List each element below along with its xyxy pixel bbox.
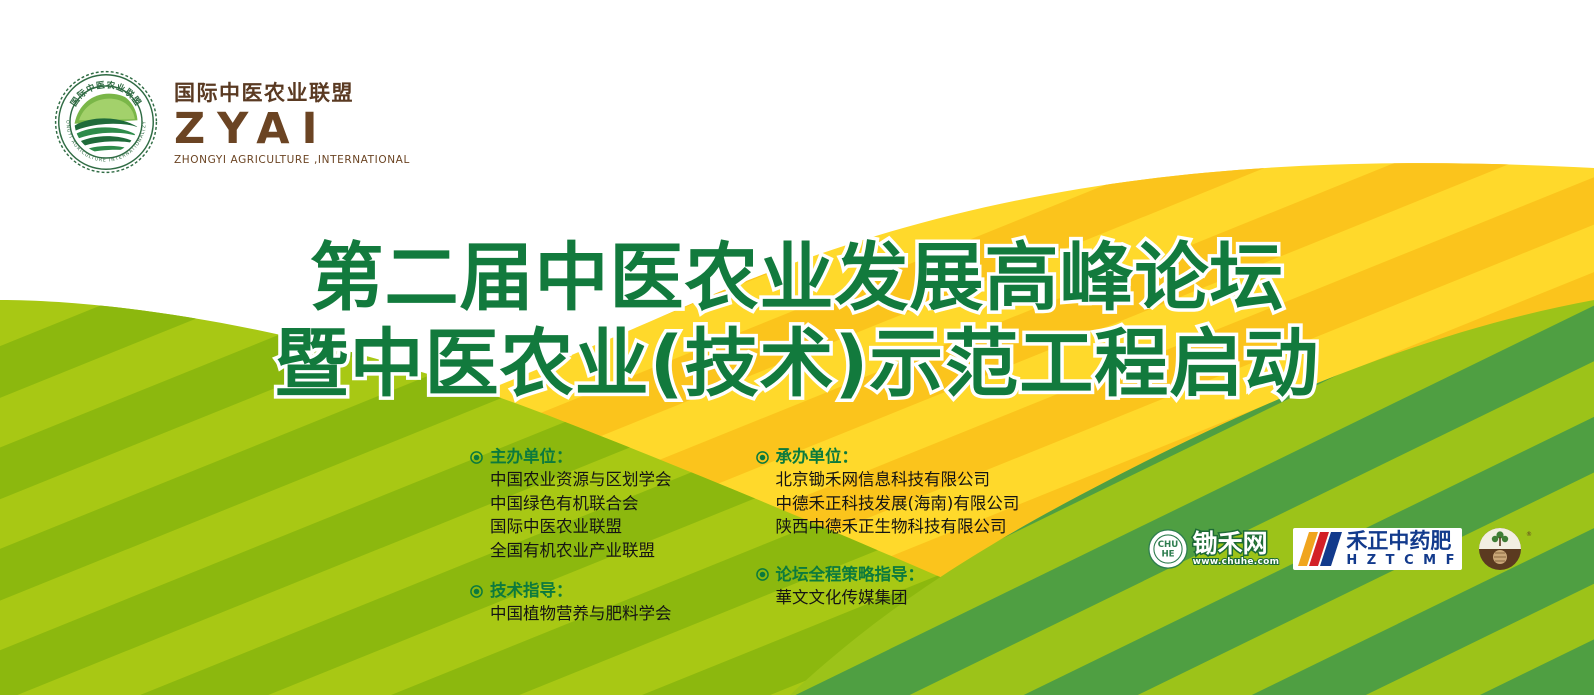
bullet-target-icon [470, 451, 483, 464]
detail-item: 陕西中德禾正生物科技有限公司 [776, 515, 1020, 538]
detail-heading: 承办单位： [756, 446, 1020, 468]
logo-wordmark: 国际中医农业联盟 ZYAI ZHONGYI AGRICULTURE ,INTER… [174, 78, 410, 165]
detail-heading-text: 承办单位： [776, 446, 859, 468]
detail-item: 中国绿色有机联合会 [490, 492, 672, 515]
detail-group-tech-guidance: 技术指导： 中国植物营养与肥料学会 [470, 580, 672, 626]
detail-group-hosts: 主办单位： 中国农业资源与区划学会 中国绿色有机联合会 国际中医农业联盟 全国有… [470, 446, 672, 562]
detail-item-list: 北京锄禾网信息科技有限公司 中德禾正科技发展(海南)有限公司 陕西中德禾正生物科… [776, 468, 1020, 545]
detail-item-list: 華文文化传媒集团 [776, 586, 1020, 609]
detail-group-organizers: 承办单位： 北京锄禾网信息科技有限公司 中德禾正科技发展(海南)有限公司 陕西中… [756, 446, 1020, 546]
svg-text:®: ® [1526, 531, 1532, 538]
hz-stripes-icon [1298, 532, 1342, 566]
detail-heading: 论坛全程策略指导： [756, 564, 1020, 586]
svg-text:HE: HE [1161, 549, 1174, 559]
sponsor-logo-hztcmf: 禾正中药肥 H Z T C M F [1293, 528, 1462, 570]
detail-group-strategy-guidance: 论坛全程策略指导： 華文文化传媒集团 [756, 564, 1020, 610]
detail-heading-text: 主办单位： [490, 446, 573, 468]
sponsor-logo-chuhe: CHU HE 锄禾网 www.chuhe.com [1148, 529, 1280, 569]
detail-heading-text: 论坛全程策略指导： [776, 564, 925, 586]
detail-item: 北京锄禾网信息科技有限公司 [776, 468, 1020, 491]
detail-item: 全国有机农业产业联盟 [490, 539, 672, 562]
detail-item: 国际中医农业联盟 [490, 515, 672, 538]
sponsor-logo-row: CHU HE 锄禾网 www.chuhe.com 禾正中药肥 H Z T C M… [1148, 526, 1532, 572]
bullet-target-icon [470, 585, 483, 598]
organization-logo: 国际中医农业联盟 ZHONGYI AGRICULTURE INTERNATION… [52, 68, 410, 176]
detail-item-list: 中国植物营养与肥料学会 [490, 602, 672, 625]
hztcmf-name-en: H Z T C M F [1346, 554, 1457, 567]
chuhe-name: 锄禾网 [1193, 531, 1280, 556]
logo-name-cn: 国际中医农业联盟 [174, 82, 410, 105]
detail-heading: 技术指导： [470, 580, 672, 602]
logo-name-en: ZHONGYI AGRICULTURE ,INTERNATIONAL [174, 154, 410, 166]
chuhe-seal-icon: CHU HE [1148, 529, 1188, 569]
detail-item: 中德禾正科技发展(海南)有限公司 [776, 492, 1020, 515]
detail-column-left: 主办单位： 中国农业资源与区划学会 中国绿色有机联合会 国际中医农业联盟 全国有… [470, 446, 672, 626]
organizer-details: 主办单位： 中国农业资源与区划学会 中国绿色有机联合会 国际中医农业联盟 全国有… [470, 446, 1019, 626]
zyai-seal-icon: 国际中医农业联盟 ZHONGYI AGRICULTURE INTERNATION… [52, 68, 160, 176]
detail-item-list: 中国农业资源与区划学会 中国绿色有机联合会 国际中医农业联盟 全国有机农业产业联… [490, 468, 672, 562]
detail-heading: 主办单位： [470, 446, 672, 468]
hztcmf-wordmark: 禾正中药肥 H Z T C M F [1346, 531, 1457, 567]
detail-item: 中国植物营养与肥料学会 [490, 602, 672, 625]
detail-heading-text: 技术指导： [490, 580, 573, 602]
event-banner: 国际中医农业联盟 ZHONGYI AGRICULTURE INTERNATION… [0, 0, 1594, 695]
logo-acronym: ZYAI [174, 108, 410, 151]
hztcmf-name-cn: 禾正中药肥 [1346, 531, 1457, 552]
detail-item: 華文文化传媒集团 [776, 586, 1020, 609]
detail-spacer [776, 539, 1020, 546]
bullet-target-icon [756, 568, 769, 581]
sponsor-logo-seed-sprout-icon: ® [1476, 526, 1532, 572]
detail-item: 中国农业资源与区划学会 [490, 468, 672, 491]
bullet-target-icon [756, 451, 769, 464]
chuhe-wordmark: 锄禾网 www.chuhe.com [1193, 531, 1280, 567]
chuhe-url: www.chuhe.com [1193, 558, 1280, 567]
detail-column-right: 承办单位： 北京锄禾网信息科技有限公司 中德禾正科技发展(海南)有限公司 陕西中… [756, 446, 1020, 626]
